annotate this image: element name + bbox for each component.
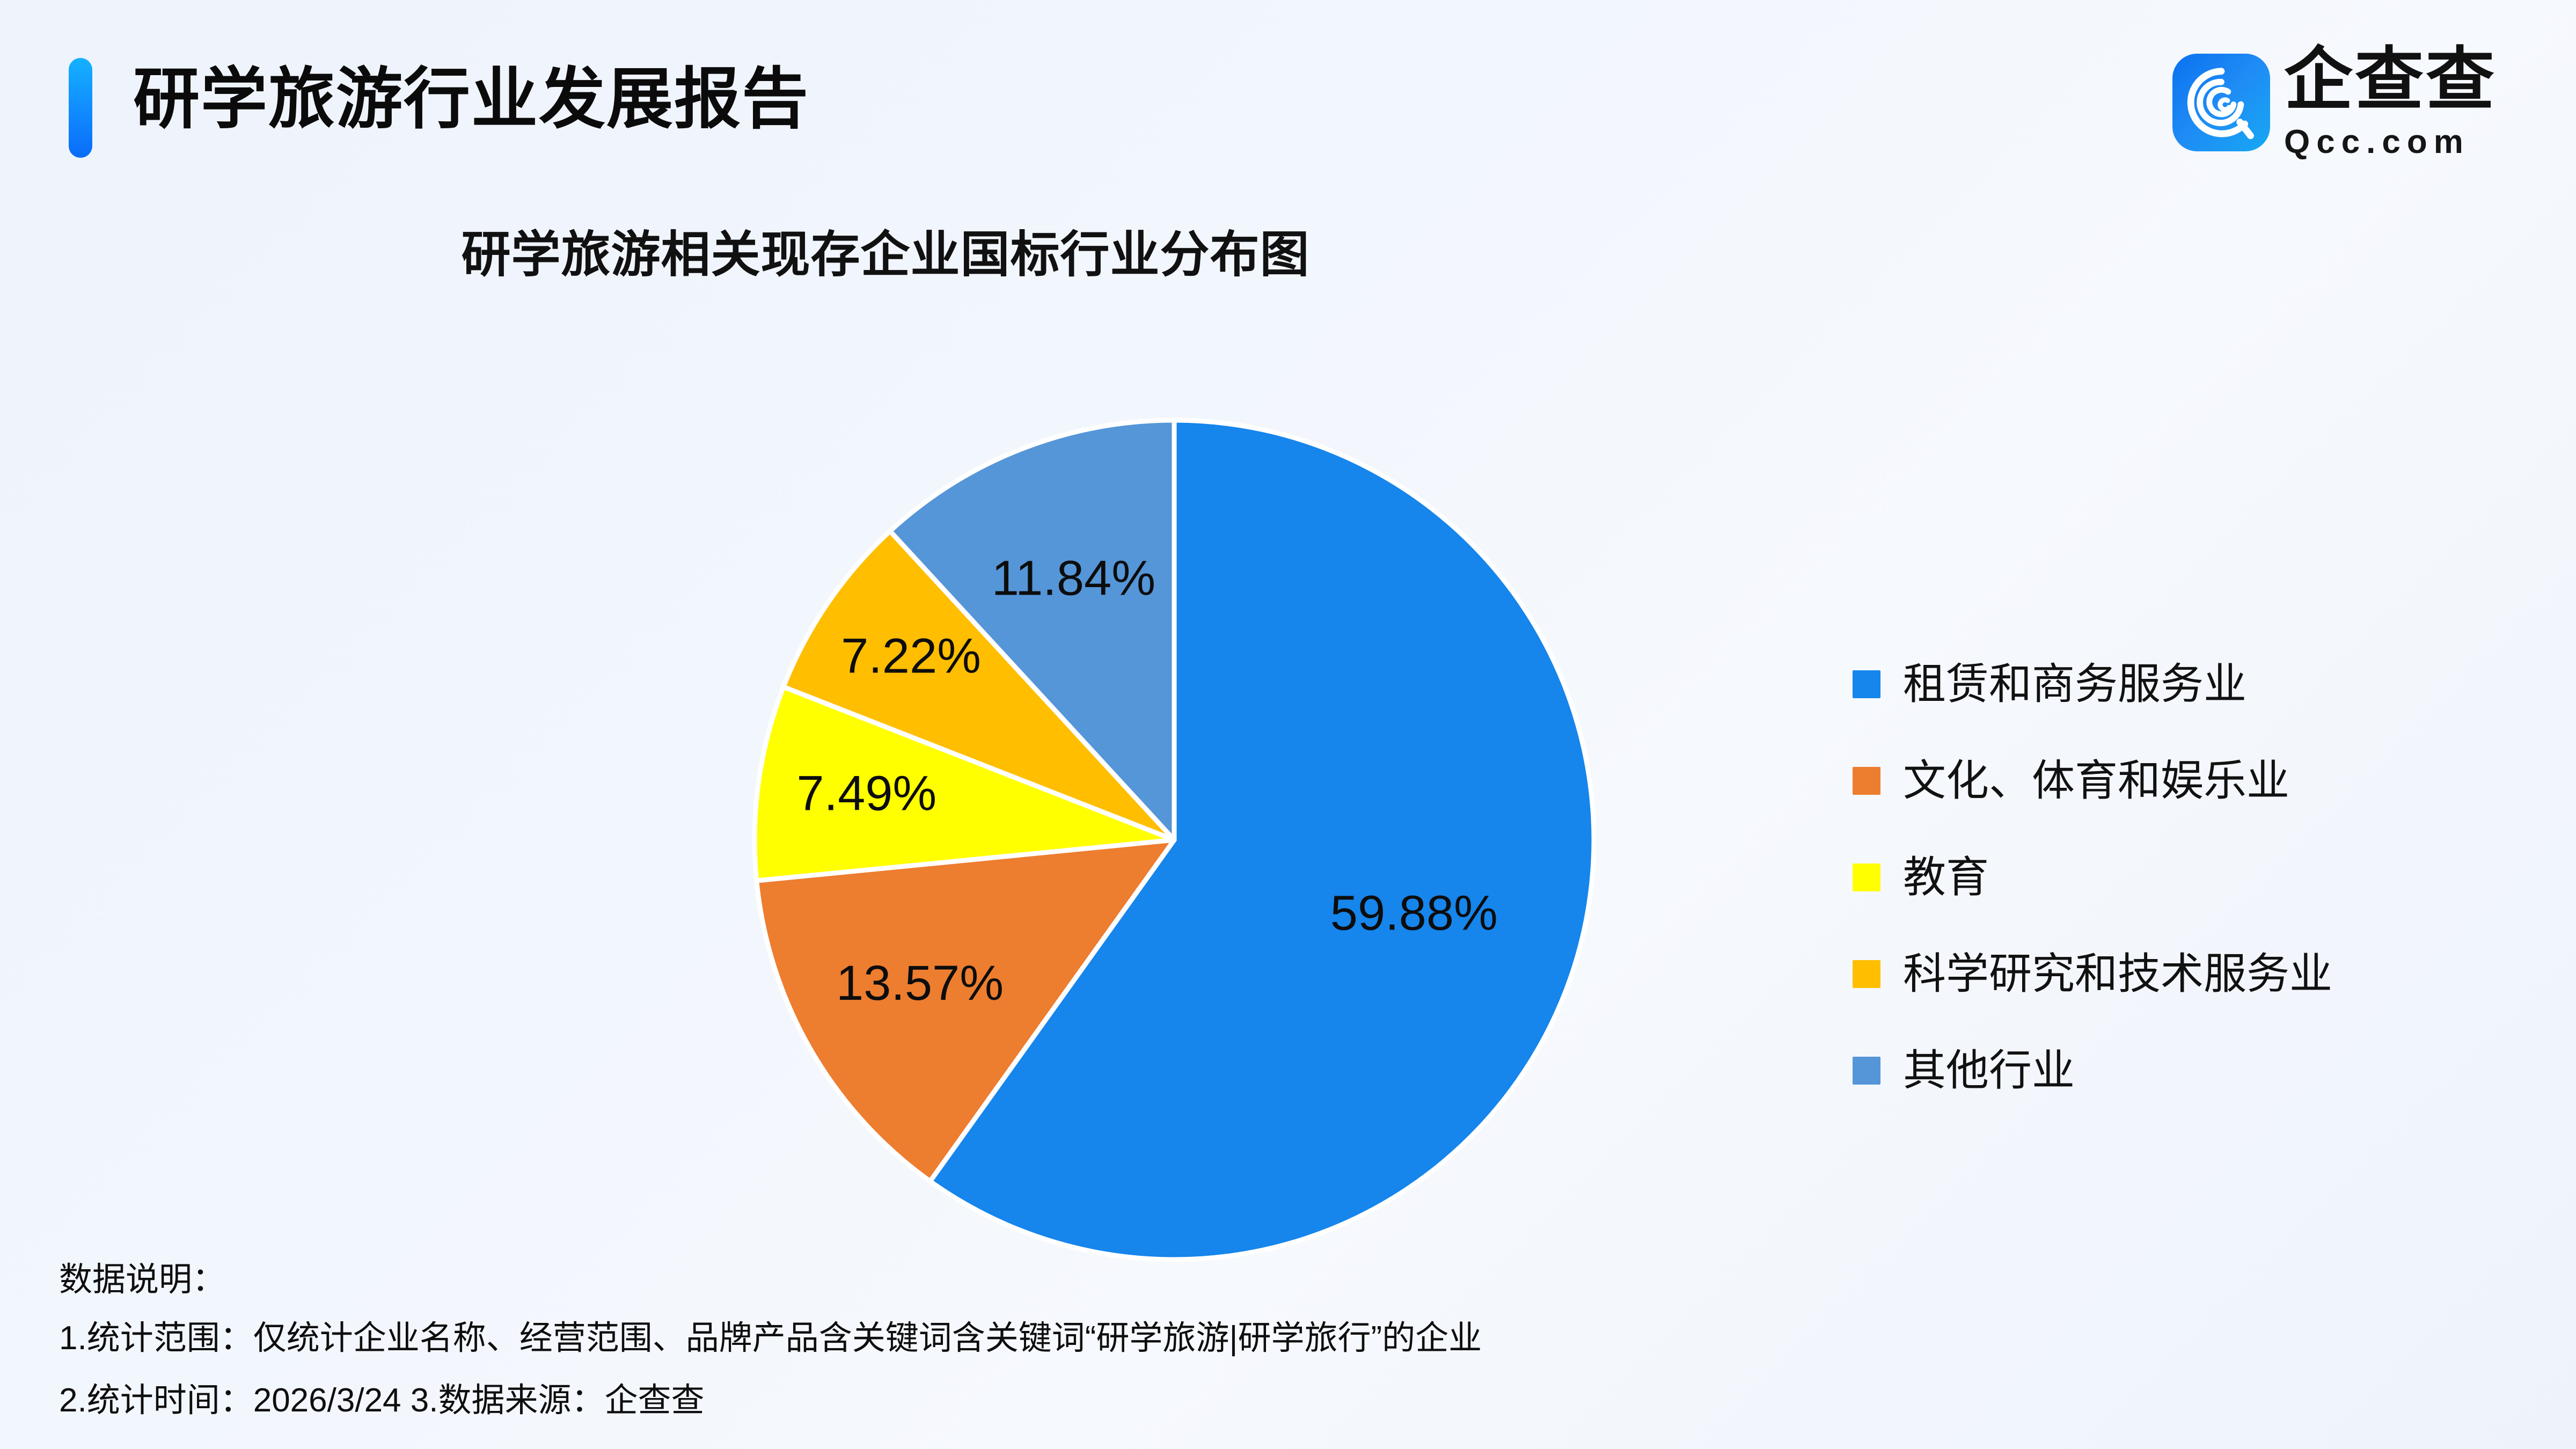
data-notes-scope: 1.统计范围：仅统计企业名称、经营范围、品牌产品含关键词含关键词“研学旅游|研学…	[59, 1320, 2313, 1357]
legend-swatch-icon	[1853, 670, 1880, 698]
chart-title: 研学旅游相关现存企业国标行业分布图	[0, 215, 1771, 286]
report-page: 研学旅游行业发展报告 企查查 Qcc.com 研学旅游相关现存企业国标行业分布图…	[0, 0, 2576, 1449]
legend-item-label: 其他行业	[1903, 1049, 2075, 1092]
legend-item-0[interactable]: 租赁和商务服务业	[1853, 667, 2332, 702]
pie-slice-label: 7.22%	[841, 629, 981, 684]
legend-swatch-icon	[1853, 960, 1880, 988]
pie-slice-label: 7.49%	[796, 766, 936, 821]
legend-swatch-icon	[1853, 863, 1880, 891]
legend-item-label: 科学研究和技术服务业	[1903, 953, 2332, 996]
brand-logo[interactable]: 企查查 Qcc.com	[2172, 45, 2497, 160]
data-notes: 数据说明： 1.统计范围：仅统计企业名称、经营范围、品牌产品含关键词含关键词“研…	[59, 1261, 2313, 1444]
legend-swatch-icon	[1853, 1057, 1880, 1085]
brand-name-en: Qcc.com	[2284, 124, 2497, 160]
legend-item-label: 教育	[1903, 856, 1989, 899]
pie-chart: 59.88%13.57%7.49%7.22%11.84%	[708, 376, 1642, 1309]
pie-slice-label: 13.57%	[836, 956, 1004, 1011]
brand-text: 企查查 Qcc.com	[2284, 45, 2497, 160]
pie-slice-label: 11.84%	[992, 551, 1155, 605]
title-accent-bar	[69, 58, 92, 158]
chart-legend: 租赁和商务服务业 文化、体育和娱乐业 教育 科学研究和技术服务业 其他行业	[1853, 667, 2332, 1150]
legend-item-label: 租赁和商务服务业	[1903, 663, 2246, 706]
data-notes-heading: 数据说明：	[59, 1261, 2313, 1298]
legend-item-label: 文化、体育和娱乐业	[1903, 759, 2289, 802]
legend-item-1[interactable]: 文化、体育和娱乐业	[1853, 763, 2332, 799]
page-title: 研学旅游行业发展报告	[133, 52, 809, 148]
brand-name-cn: 企查查	[2284, 45, 2497, 115]
data-notes-time-source: 2.统计时间：2026/3/24 3.数据来源：企查查	[59, 1382, 2313, 1419]
legend-swatch-icon	[1853, 767, 1880, 795]
pie-slice-label: 59.88%	[1330, 886, 1498, 941]
legend-item-2[interactable]: 教育	[1853, 860, 2332, 895]
legend-item-3[interactable]: 科学研究和技术服务业	[1853, 956, 2332, 992]
qcc-at-spiral-icon	[2172, 54, 2270, 151]
legend-item-4[interactable]: 其他行业	[1853, 1053, 2332, 1088]
